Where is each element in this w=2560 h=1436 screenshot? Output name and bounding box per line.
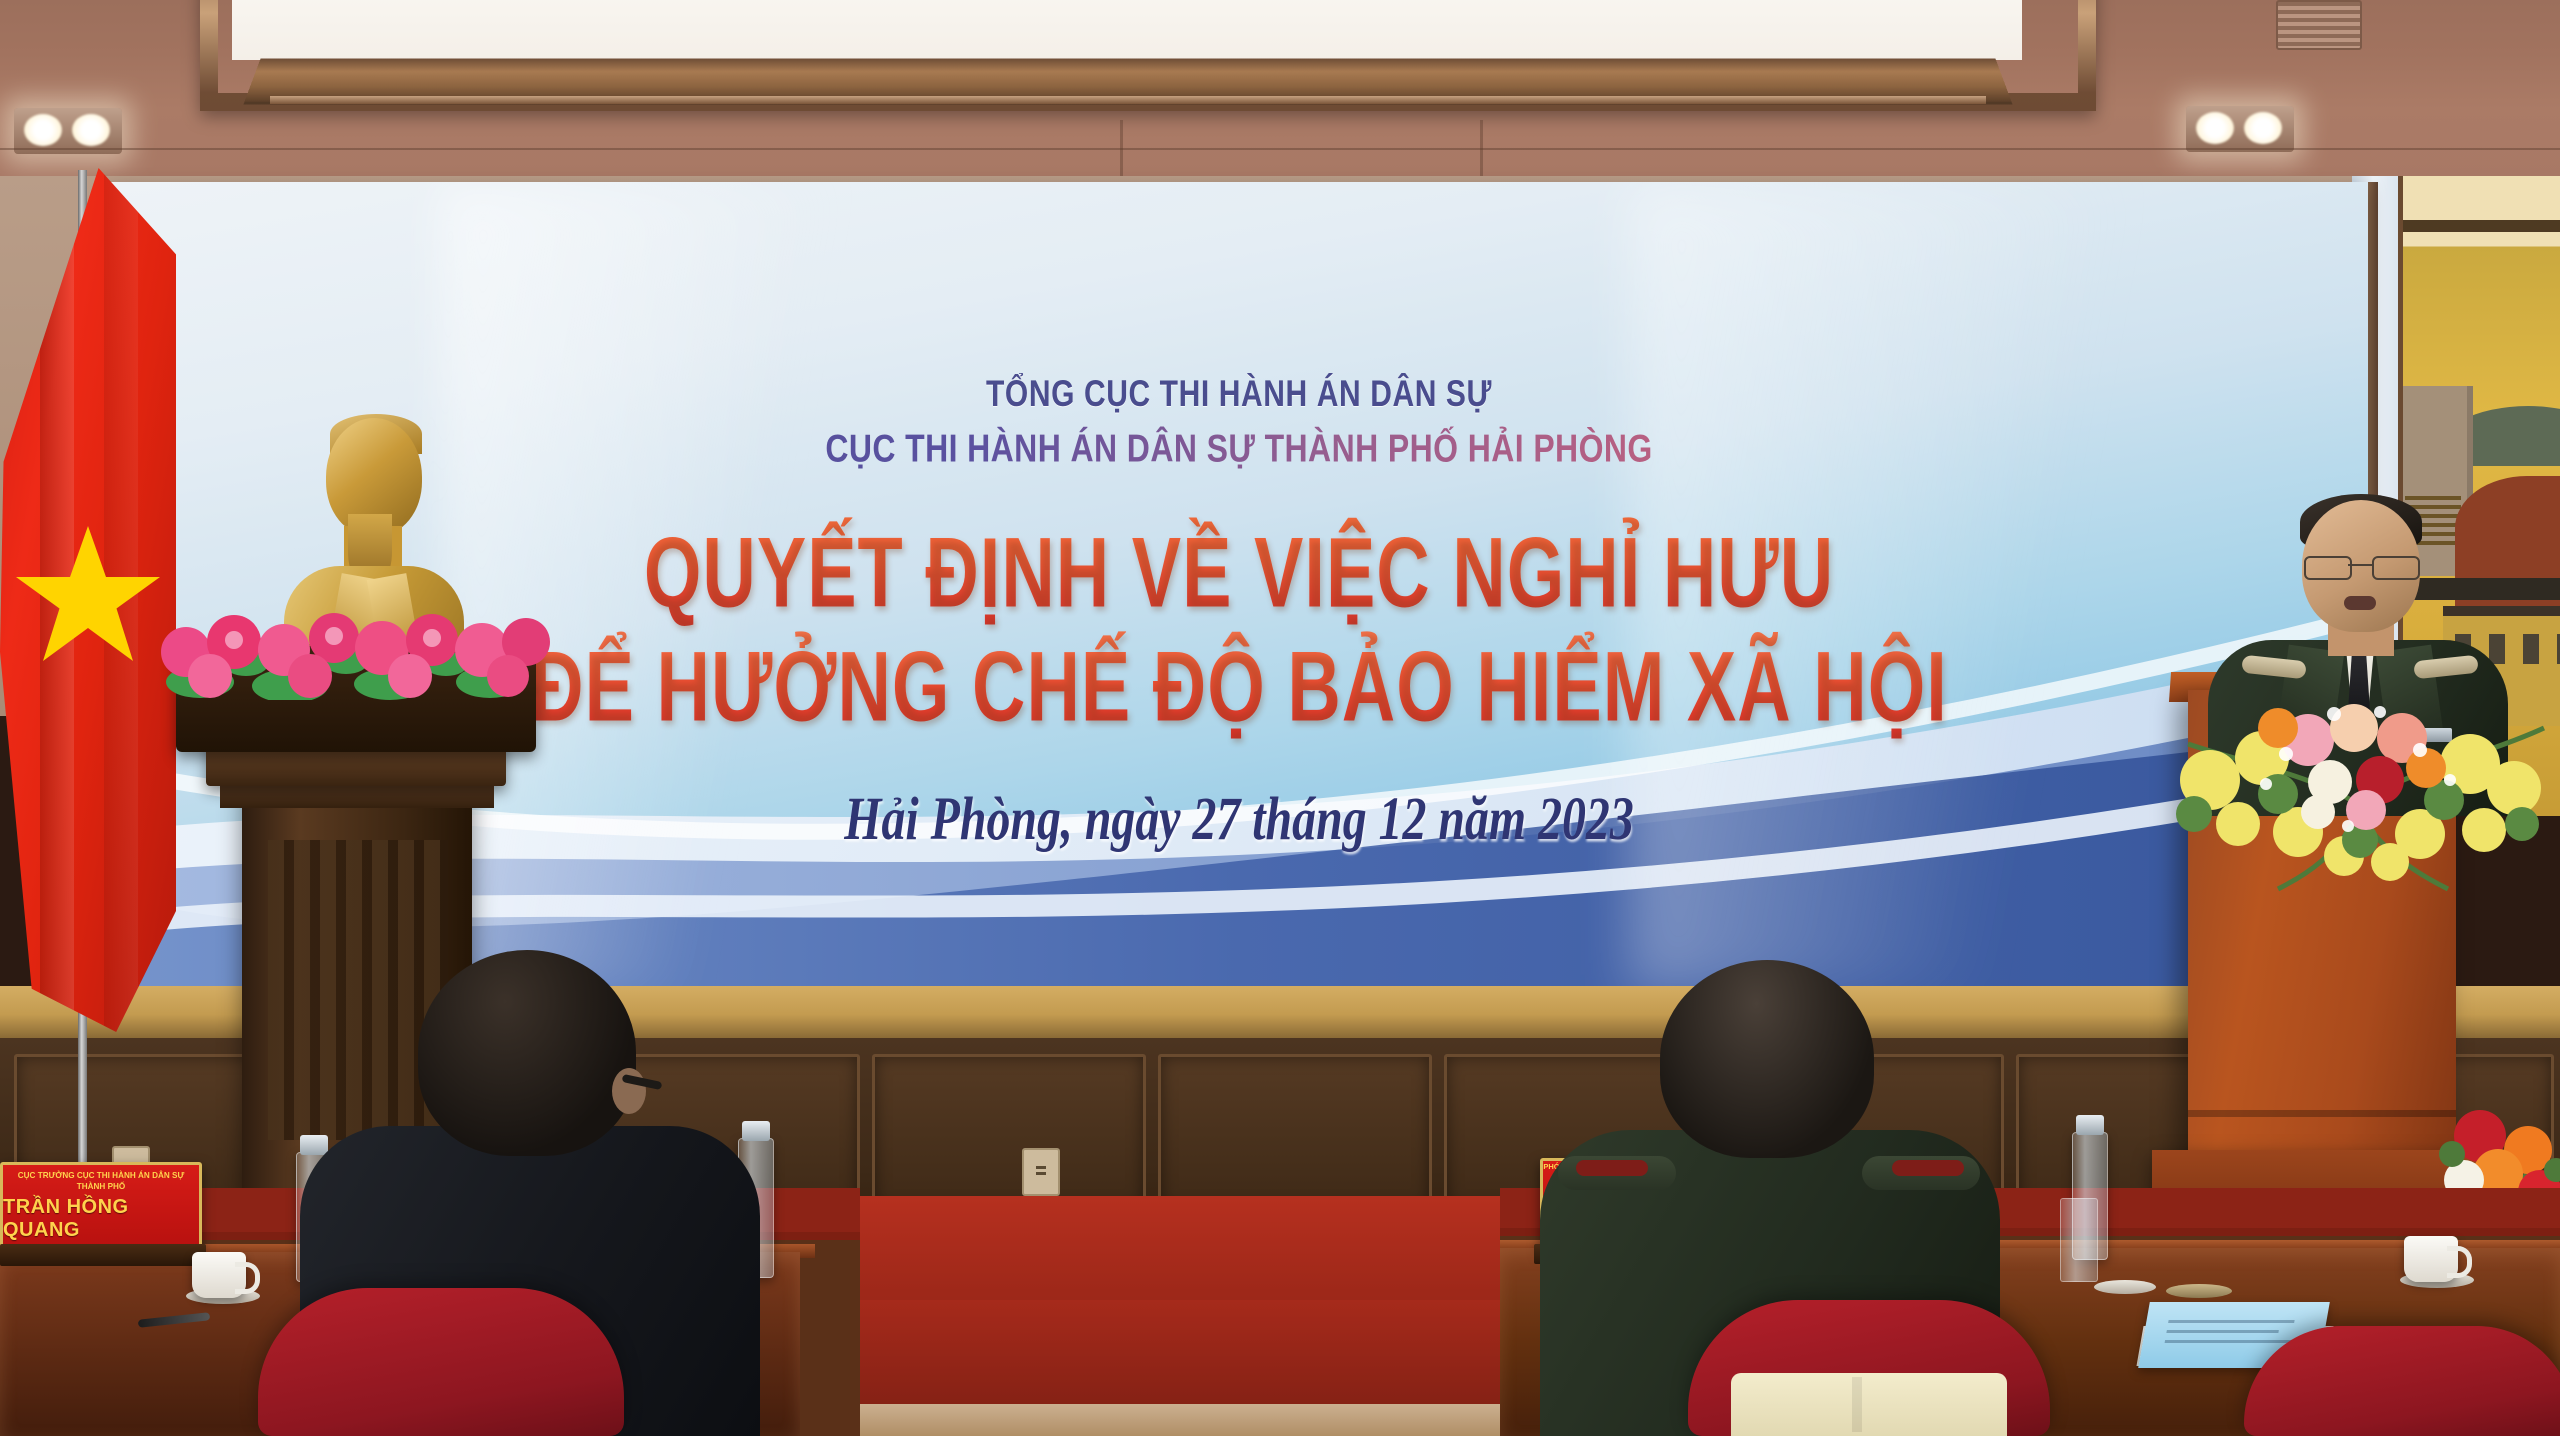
- backdrop-date-line: Hải Phòng, ngày 27 tháng 12 năm 2023: [200, 785, 2277, 855]
- small-dish: [2166, 1284, 2232, 1298]
- uniform-epaulette-right: [1892, 1160, 1964, 1176]
- ceiling-seam: [0, 148, 2560, 150]
- nameplate-tran-hong-quang: CỤC TRƯỞNG CỤC THI HÀNH ÁN DÂN SỰ THÀNH …: [0, 1162, 202, 1250]
- backdrop-org-line-1: TỔNG CỤC THI HÀNH ÁN DÂN SỰ: [110, 374, 2368, 415]
- drinking-glass[interactable]: [2060, 1198, 2098, 1282]
- ceiling-seam: [1120, 120, 1123, 182]
- nameplate-name: TRẦN HỒNG QUANG: [3, 1196, 199, 1242]
- ceiling: [0, 0, 2560, 182]
- nameplate-role: CỤC TRƯỞNG CỤC THI HÀNH ÁN DÂN SỰ THÀNH …: [7, 1170, 195, 1191]
- power-outlet-icon[interactable]: [1022, 1148, 1060, 1196]
- chair-left[interactable]: [258, 1288, 624, 1436]
- flag-star-icon: [12, 520, 164, 670]
- ceiling-coffer-moulding: [270, 96, 1986, 104]
- mural-top-strip: [2403, 220, 2560, 232]
- coffee-cup[interactable]: [2404, 1236, 2458, 1282]
- podium-flower-arrangement: [2158, 684, 2558, 894]
- coffee-cup[interactable]: [192, 1252, 246, 1298]
- wall-panel: [872, 1054, 1146, 1210]
- wall-panel: [1158, 1054, 1432, 1210]
- chair-right[interactable]: [2244, 1326, 2560, 1436]
- nameplate-stand: [0, 1244, 206, 1266]
- eyeglasses-icon: [2304, 556, 2418, 576]
- lotus-flower-arrangement: [160, 590, 552, 700]
- air-vent-icon: [2276, 0, 2362, 50]
- ceiling-downlight-right: [2186, 106, 2294, 152]
- conference-hall-scene: TỔNG CỤC THI HÀNH ÁN DÂN SỰ CỤC THI HÀNH…: [0, 0, 2560, 1436]
- small-saucer: [2094, 1280, 2156, 1294]
- carpet-runner: [820, 1404, 1520, 1436]
- uniform-epaulette-left: [1576, 1160, 1648, 1176]
- ceiling-seam: [1480, 120, 1483, 182]
- chair-center[interactable]: [1688, 1300, 2050, 1436]
